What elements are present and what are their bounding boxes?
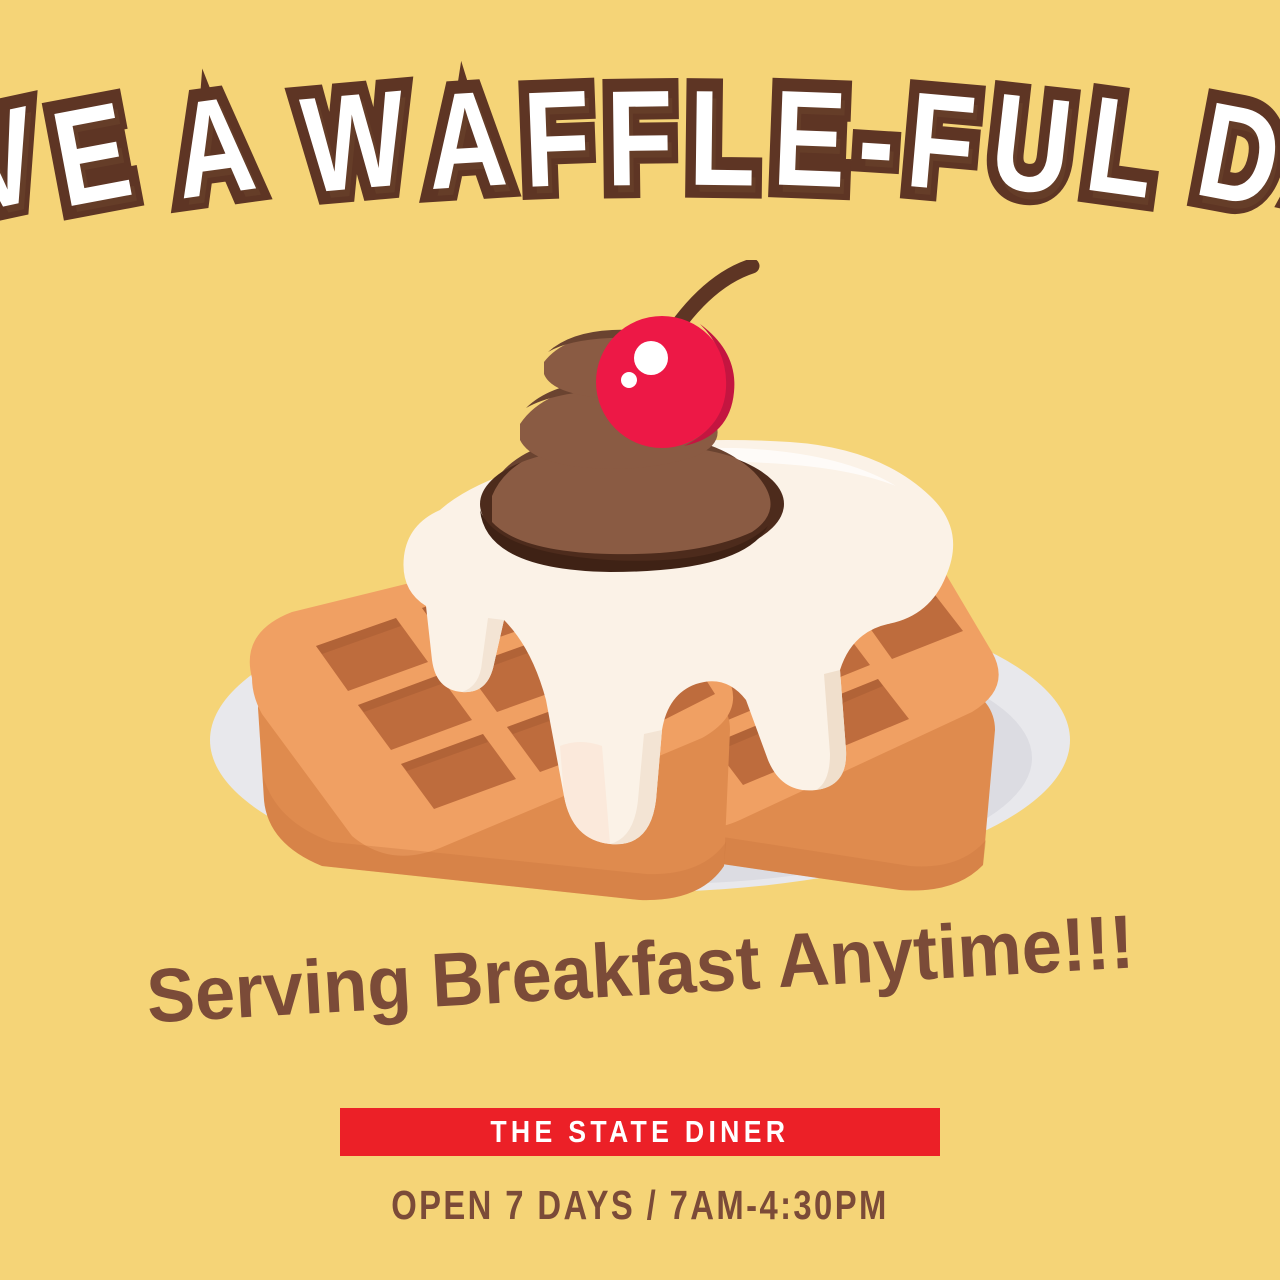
headline-letter: E (770, 69, 846, 208)
diner-name-banner: THE STATE DINER (340, 1108, 940, 1156)
headline-letter: E (43, 81, 138, 228)
headline-letter: L (689, 70, 756, 207)
headline-letter: V (0, 85, 49, 233)
tagline-text: Serving Breakfast Anytime!!! (144, 902, 1135, 1037)
headline-letter: U (985, 72, 1077, 216)
headline-letter: F (606, 70, 673, 207)
cherry (596, 266, 752, 448)
headline-letter: L (1079, 75, 1162, 219)
tagline: Serving Breakfast Anytime!!! (0, 930, 1280, 1010)
headline-arc-text: HAVEAWAFFLE-FULDAY! (0, 100, 1280, 236)
waffle-illustration (140, 260, 1140, 920)
headline-letter: D (1188, 81, 1280, 229)
headline: HAVEAWAFFLE-FULDAY! (0, 58, 1280, 278)
poster-canvas: HAVEAWAFFLE-FULDAY! (0, 0, 1280, 1280)
headline-letter: F (902, 71, 978, 212)
headline-letter: W (297, 69, 410, 213)
headline-letter: A (423, 70, 508, 211)
hours-text: OPEN 7 DAYS / 7AM-4:30PM (391, 1182, 889, 1229)
headline-letter: A (165, 74, 260, 219)
headline-letter: - (855, 71, 898, 209)
hours-line: OPEN 7 DAYS / 7AM-4:30PM (0, 1182, 1280, 1229)
diner-name-text: THE STATE DINER (490, 1114, 789, 1150)
headline-letter: F (521, 69, 591, 207)
